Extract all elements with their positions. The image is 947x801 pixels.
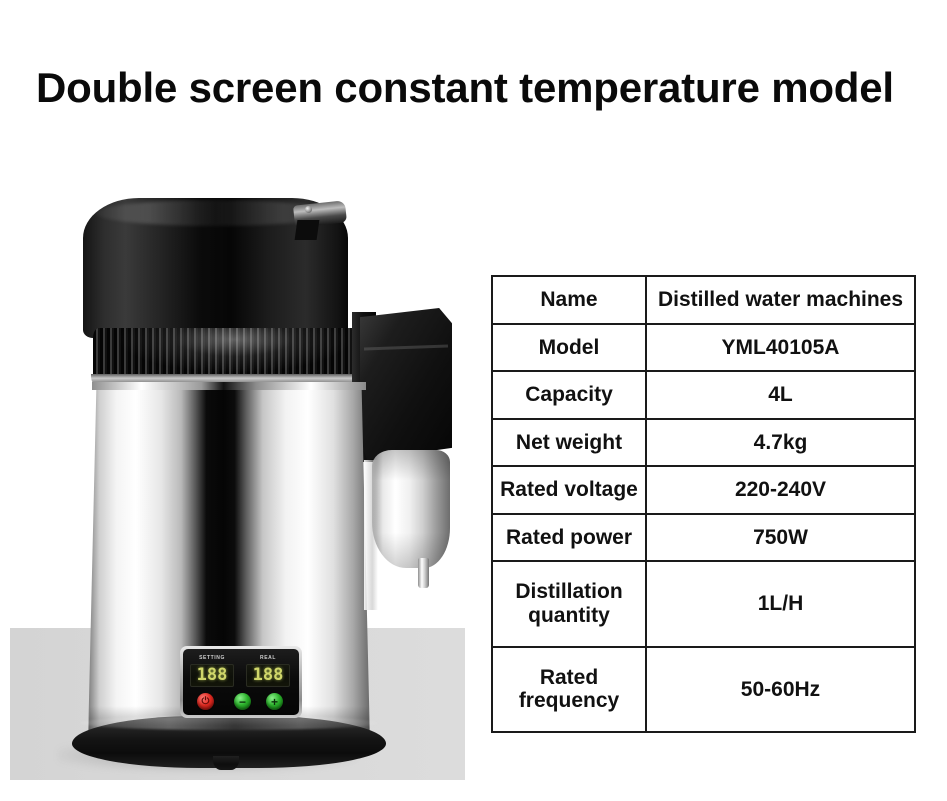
table-row: Rated voltage220-240V bbox=[492, 466, 915, 514]
spout-outlet-shading bbox=[372, 450, 450, 568]
control-panel-face: SETTING REAL 188 188 ⏻ − + bbox=[183, 649, 299, 715]
table-row: Rated frequency50-60Hz bbox=[492, 647, 915, 732]
spec-value-cell: 4.7kg bbox=[646, 419, 915, 467]
spout-housing bbox=[360, 308, 452, 460]
spec-label-cell: Capacity bbox=[492, 371, 646, 419]
real-display: 188 bbox=[246, 664, 290, 687]
table-row: Rated power750W bbox=[492, 514, 915, 562]
decrease-button[interactable]: − bbox=[234, 693, 251, 710]
base-foot bbox=[213, 756, 239, 770]
spec-label-cell: Net weight bbox=[492, 419, 646, 467]
specification-table-body: NameDistilled water machinesModelYML4010… bbox=[492, 276, 915, 732]
spec-label-cell: Model bbox=[492, 324, 646, 372]
spec-value-cell: 1L/H bbox=[646, 561, 915, 646]
spec-label-cell: Name bbox=[492, 276, 646, 324]
control-panel[interactable]: SETTING REAL 188 188 ⏻ − + bbox=[180, 646, 302, 718]
spout-nozzle bbox=[418, 558, 429, 588]
table-row: Net weight4.7kg bbox=[492, 419, 915, 467]
setting-display: 188 bbox=[190, 664, 234, 687]
spec-value-cell: 4L bbox=[646, 371, 915, 419]
spec-label-cell: Distillation quantity bbox=[492, 561, 646, 646]
power-icon: ⏻ bbox=[202, 697, 210, 707]
cooling-vent-band bbox=[93, 328, 365, 380]
spec-value-cell: 220-240V bbox=[646, 466, 915, 514]
water-distiller-illustration: SETTING REAL 188 188 ⏻ − + bbox=[0, 150, 470, 801]
lid-latch-tab bbox=[295, 220, 320, 240]
spec-label-cell: Rated power bbox=[492, 514, 646, 562]
spec-value-cell: Distilled water machines bbox=[646, 276, 915, 324]
spec-value-cell: YML40105A bbox=[646, 324, 915, 372]
plus-icon: + bbox=[271, 696, 278, 708]
table-row: Capacity4L bbox=[492, 371, 915, 419]
specification-table: NameDistilled water machinesModelYML4010… bbox=[491, 275, 916, 733]
lid-screw-icon bbox=[305, 206, 312, 213]
base-highlight bbox=[80, 716, 378, 730]
real-display-value: 188 bbox=[253, 667, 284, 684]
body-top-edge bbox=[92, 382, 366, 390]
real-display-label: REAL bbox=[245, 655, 291, 661]
increase-button[interactable]: + bbox=[266, 693, 283, 710]
spec-label-cell: Rated frequency bbox=[492, 647, 646, 732]
spec-value-cell: 50-60Hz bbox=[646, 647, 915, 732]
table-row: ModelYML40105A bbox=[492, 324, 915, 372]
table-row: Distillation quantity1L/H bbox=[492, 561, 915, 646]
minus-icon: − bbox=[239, 696, 246, 708]
page-title: Double screen constant temperature model bbox=[36, 66, 936, 110]
product-image: SETTING REAL 188 188 ⏻ − + bbox=[0, 150, 470, 801]
spec-label-cell: Rated voltage bbox=[492, 466, 646, 514]
spec-value-cell: 750W bbox=[646, 514, 915, 562]
vent-highlight bbox=[93, 328, 365, 380]
setting-display-value: 188 bbox=[197, 667, 228, 684]
power-button[interactable]: ⏻ bbox=[197, 693, 214, 710]
setting-display-label: SETTING bbox=[189, 655, 235, 661]
table-row: NameDistilled water machines bbox=[492, 276, 915, 324]
body-spout-seam bbox=[364, 460, 378, 610]
